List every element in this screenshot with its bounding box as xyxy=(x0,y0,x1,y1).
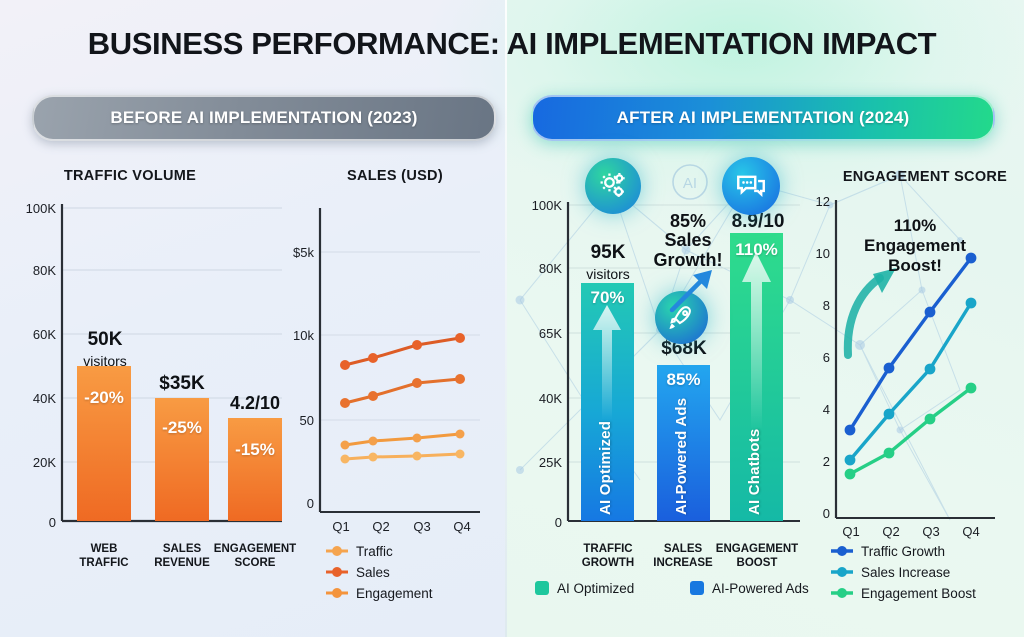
ytick-eng-0: 0 xyxy=(823,506,830,521)
callout-engagement-boost: 110% Engagement Boost! xyxy=(855,216,975,276)
ytick-eng-10: 10 xyxy=(816,246,830,261)
infographic-canvas: AI BUSINESS PERFORMANCE: AI IMPLEMENTATI… xyxy=(0,0,1024,637)
curved-arrow-icon xyxy=(848,268,896,355)
xtick-eng-q4: Q4 xyxy=(962,524,979,539)
ytick-eng-12: 12 xyxy=(816,194,830,209)
ytick-eng-2: 2 xyxy=(823,454,830,469)
ytick-eng-6: 6 xyxy=(823,350,830,365)
xtick-eng-q3: Q3 xyxy=(922,524,939,539)
line-series-engagement-boost xyxy=(845,383,977,480)
xtick-eng-q2: Q2 xyxy=(882,524,899,539)
engagement-chart-legend: Traffic Growth Sales Increase Engagement… xyxy=(831,544,976,601)
legend-sales-increase[interactable]: Sales Increase xyxy=(861,565,950,580)
ytick-eng-4: 4 xyxy=(823,402,830,417)
xtick-eng-q1: Q1 xyxy=(842,524,859,539)
legend-engagement-boost[interactable]: Engagement Boost xyxy=(861,586,976,601)
line-series-sales-increase xyxy=(845,298,977,466)
legend-traffic-growth[interactable]: Traffic Growth xyxy=(861,544,945,559)
line-series-traffic-growth xyxy=(845,253,977,436)
engagement-score-line-chart: 12 10 8 6 4 2 0 Q1 Q2 Q3 Q4 xyxy=(0,0,1024,637)
ytick-eng-8: 8 xyxy=(823,298,830,313)
